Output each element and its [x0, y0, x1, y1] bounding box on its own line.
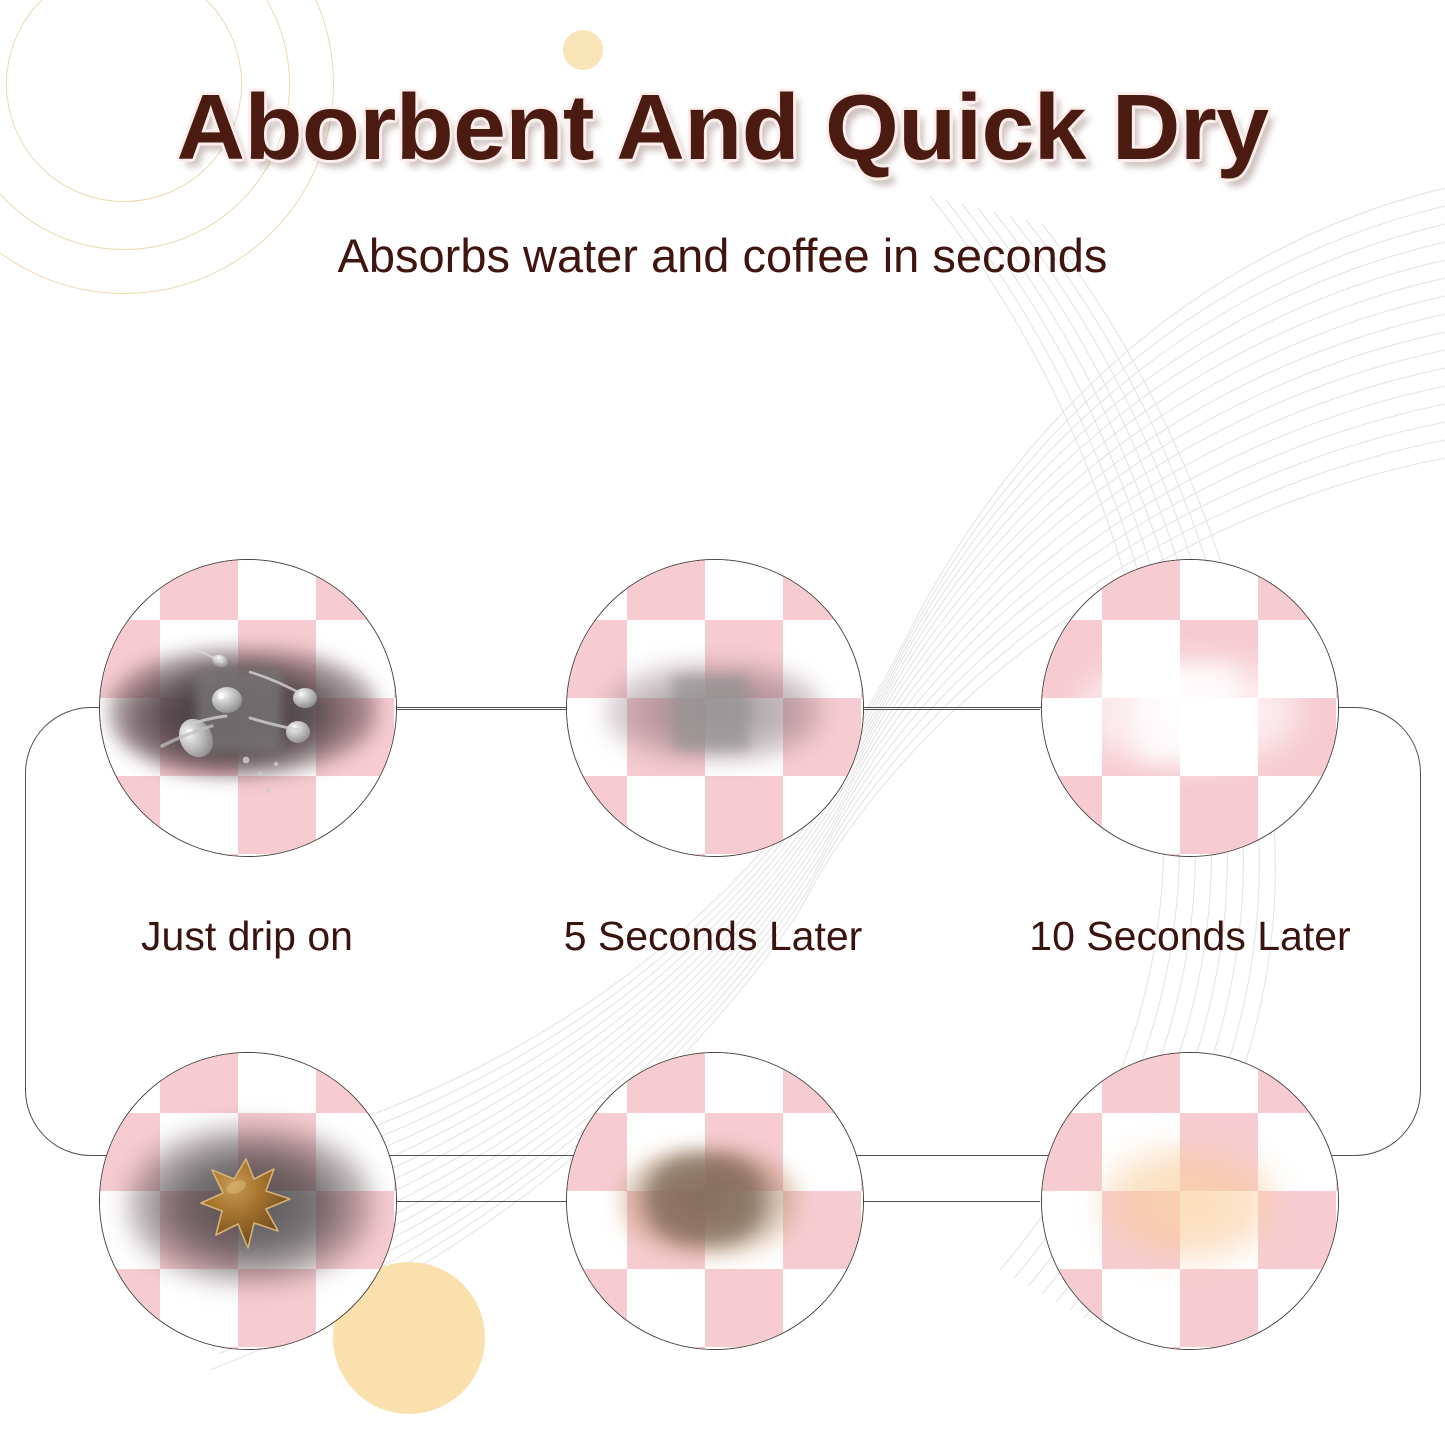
page-title: Aborbent And Quick Dry [0, 78, 1445, 177]
water-demo-step-3 [1041, 559, 1339, 857]
water-stain-core-faded [673, 676, 749, 750]
connector-bottom-1 [392, 1201, 570, 1202]
connector-top-1 [392, 709, 570, 710]
water-demo-step-1 [99, 559, 397, 857]
pale-yellow-dot [563, 30, 603, 70]
water-demo-step-2 [566, 559, 864, 857]
coffee-splash-icon [196, 1153, 296, 1253]
water-stain-dry-core [1138, 668, 1234, 760]
coffee-stain-core [649, 1157, 761, 1243]
coffee-stain-dry [1094, 1141, 1284, 1267]
step-label-just-drip-on: Just drip on [99, 913, 395, 960]
connector-bottom-2 [860, 1201, 1040, 1202]
page-subtitle: Absorbs water and coffee in seconds [0, 228, 1445, 284]
step-label-5-seconds-later: 5 Seconds Later [543, 913, 883, 960]
connector-top-2 [860, 709, 1040, 710]
step-label-10-seconds-later: 10 Seconds Later [1000, 913, 1380, 960]
coffee-demo-step-3 [1041, 1052, 1339, 1350]
coffee-demo-step-2 [566, 1052, 864, 1350]
coffee-demo-step-1 [99, 1052, 397, 1350]
water-droplets-icon [100, 560, 396, 856]
